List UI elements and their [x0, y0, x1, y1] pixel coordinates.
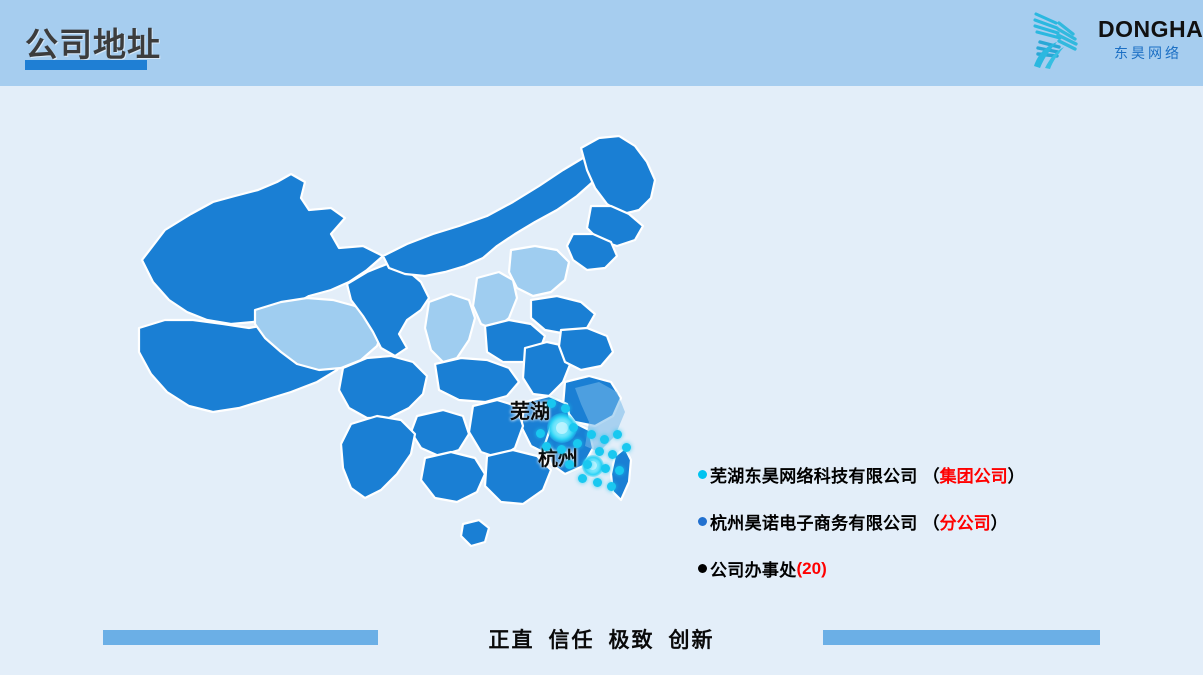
office-dot[interactable]	[601, 464, 610, 473]
title-underline	[25, 60, 147, 70]
office-dot[interactable]	[593, 478, 602, 487]
legend-tag-close: ）	[1008, 467, 1025, 486]
legend-tag-text: 分公司	[940, 514, 991, 533]
office-dot[interactable]	[573, 439, 582, 448]
province-yunnan[interactable]	[341, 416, 415, 498]
legend-item-branch-company[interactable]: 杭州昊诺电子商务有限公司 （分公司）	[698, 509, 1118, 534]
legend-tag-close: )	[821, 559, 827, 578]
legend-item-group-company[interactable]: 芜湖东昊网络科技有限公司 （集团公司）	[698, 462, 1118, 487]
china-map[interactable]: 芜湖 杭州	[95, 130, 715, 600]
china-map-svg[interactable]	[95, 130, 715, 600]
office-dot[interactable]	[536, 429, 545, 438]
wing-icon	[1026, 6, 1092, 72]
legend-tag-close: ）	[991, 514, 1008, 533]
legend-bullet-black	[698, 564, 707, 573]
office-dot[interactable]	[565, 460, 574, 469]
legend-tag-text: 20	[802, 559, 821, 578]
office-dot[interactable]	[583, 460, 592, 469]
legend-tag-open: （	[923, 467, 940, 486]
province-xinjiang[interactable]	[142, 174, 383, 324]
marker-core	[556, 422, 568, 434]
office-dot[interactable]	[587, 430, 596, 439]
office-dot[interactable]	[578, 474, 587, 483]
legend-label: 公司办事处	[710, 556, 797, 581]
province-jiangsu[interactable]	[559, 328, 613, 370]
company-logo: DONGHAO 东昊网络	[1026, 4, 1191, 76]
logo-subtitle: 东昊网络	[1114, 46, 1182, 60]
page-header: 公司地址 DONGHAO 东昊网络	[0, 0, 1203, 86]
province-shaanxi[interactable]	[425, 294, 475, 362]
legend-tag: （集团公司）	[923, 462, 1025, 487]
legend-label: 杭州昊诺电子商务有限公司	[710, 509, 918, 534]
office-dot[interactable]	[569, 423, 578, 432]
office-dot[interactable]	[600, 435, 609, 444]
office-dot[interactable]	[542, 442, 551, 451]
province-guizhou[interactable]	[411, 410, 469, 456]
map-label-wuhu: 芜湖	[510, 395, 550, 424]
province-heilongjiang[interactable]	[581, 136, 655, 214]
footer-slogan: 正直信任极致创新	[0, 624, 1203, 654]
office-dot[interactable]	[547, 399, 556, 408]
province-hebei[interactable]	[509, 246, 569, 296]
office-dot[interactable]	[613, 430, 622, 439]
slogan-word: 创新	[669, 629, 715, 652]
office-dot[interactable]	[595, 447, 604, 456]
province-hainan[interactable]	[461, 520, 489, 546]
slogan-word: 信任	[549, 629, 595, 652]
legend-bullet-cyan	[698, 470, 707, 479]
slogan-word: 正直	[489, 629, 535, 652]
map-legend: 芜湖东昊网络科技有限公司 （集团公司） 杭州昊诺电子商务有限公司 （分公司） 公…	[698, 462, 1118, 603]
province-guangxi[interactable]	[421, 452, 485, 502]
province-hubei[interactable]	[435, 358, 519, 402]
slogan-word: 极致	[609, 629, 655, 652]
office-dot[interactable]	[608, 450, 617, 459]
office-dot[interactable]	[607, 482, 616, 491]
legend-tag: （分公司）	[923, 509, 1008, 534]
office-dot[interactable]	[615, 466, 624, 475]
page-title: 公司地址	[25, 18, 161, 66]
legend-tag: (20)	[797, 559, 827, 579]
office-dot[interactable]	[622, 443, 631, 452]
legend-item-offices[interactable]: 公司办事处 (20)	[698, 556, 1118, 581]
office-dot[interactable]	[561, 404, 570, 413]
office-dot[interactable]	[557, 445, 566, 454]
logo-wordmark: DONGHAO	[1098, 18, 1203, 41]
legend-bullet-blue	[698, 517, 707, 526]
legend-tag-open: （	[923, 514, 940, 533]
legend-label: 芜湖东昊网络科技有限公司	[710, 462, 918, 487]
province-sichuan[interactable]	[339, 356, 427, 418]
legend-tag-text: 集团公司	[940, 467, 1008, 486]
